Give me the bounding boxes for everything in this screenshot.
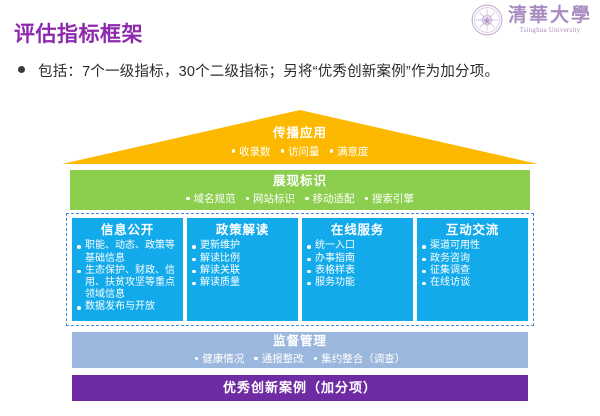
- green-band-title: 展现标识: [273, 174, 327, 189]
- page-title: 评估指标框架: [14, 18, 143, 48]
- pillar-item-list: 职能、动态、政策等基础信息 生态保护、财政、信用、扶贫攻坚等重点领域信息 数据发…: [76, 240, 179, 313]
- page-header: 评估指标框架 包括：7个一级指标，30个二级指标；另将“优秀创新案例”作为加分项…: [0, 0, 600, 92]
- pillar-item: 解读质量: [191, 277, 294, 289]
- pillars-dashed-container: 信息公开 职能、动态、政策等基础信息 生态保护、财政、信用、扶贫攻坚等重点领域信…: [66, 213, 534, 326]
- pillar-item: 征集调查: [421, 265, 524, 277]
- pillar-item: 解读比例: [191, 253, 294, 265]
- logo-wordmark: 清華大學 Tsinghua University: [508, 6, 592, 34]
- green-band-item: 域名规范: [186, 191, 236, 206]
- pillar-item: 办事指南: [306, 253, 409, 265]
- foundation-band-section: 优秀创新案例（加分项）: [72, 375, 528, 401]
- logo-name-en: Tsinghua University: [520, 27, 581, 34]
- pillar-item: 服务功能: [306, 277, 409, 289]
- supervision-item: 健康情况: [195, 351, 245, 366]
- tsinghua-seal-icon: [471, 4, 503, 36]
- summary-bullet: 包括：7个一级指标，30个二级指标；另将“优秀创新案例”作为加分项。: [18, 60, 499, 81]
- pillar-item: 政务咨询: [421, 253, 524, 265]
- supervision-item-list: 健康情况 通报整改 集约整合（调查）: [195, 351, 406, 366]
- pillar-item: 统一入口: [306, 240, 409, 252]
- foundation-band-title: 优秀创新案例（加分项）: [223, 380, 377, 396]
- pillar-information-disclosure: 信息公开 职能、动态、政策等基础信息 生态保护、财政、信用、扶贫攻坚等重点领域信…: [72, 218, 183, 321]
- green-band-item: 网站标识: [246, 191, 296, 206]
- green-band-item-list: 域名规范 网站标识 移动适配 搜索引擎: [186, 191, 414, 206]
- pillar-item: 生态保护、财政、信用、扶贫攻坚等重点领域信息: [76, 265, 179, 302]
- pillar-item-list: 统一入口 办事指南 表格样表 服务功能: [306, 240, 409, 289]
- pillar-title: 在线服务: [331, 223, 384, 237]
- pillar-title: 互动交流: [446, 223, 499, 237]
- roof-section: 传播应用 收录数 访问量 满意度: [62, 110, 538, 168]
- pillar-item: 在线访谈: [421, 277, 524, 289]
- pillar-item: 表格样表: [306, 265, 409, 277]
- pillar-item: 职能、动态、政策等基础信息: [76, 240, 179, 264]
- pillar-interactive-communication: 互动交流 渠道可用性 政务咨询 征集调查 在线访谈: [417, 218, 528, 321]
- framework-house-diagram: 传播应用 收录数 访问量 满意度 展现标识 域名规范 网站标识 移动适配 搜索引…: [0, 100, 600, 416]
- supervision-band-section: 监督管理 健康情况 通报整改 集约整合（调查）: [72, 332, 528, 368]
- pillar-item: 渠道可用性: [421, 240, 524, 252]
- green-band-item: 搜索引擎: [365, 191, 415, 206]
- bullet-dot-icon: [18, 66, 25, 73]
- pillar-item-list: 渠道可用性 政务咨询 征集调查 在线访谈: [421, 240, 524, 289]
- pillar-item: 解读关联: [191, 265, 294, 277]
- pillar-online-service: 在线服务 统一入口 办事指南 表格样表 服务功能: [302, 218, 413, 321]
- pillar-title: 信息公开: [101, 223, 154, 237]
- green-band-section: 展现标识 域名规范 网站标识 移动适配 搜索引擎: [70, 170, 530, 210]
- pillar-item: 更新维护: [191, 240, 294, 252]
- supervision-item: 集约整合（调查）: [314, 351, 406, 366]
- summary-bullet-text: 包括：7个一级指标，30个二级指标；另将“优秀创新案例”作为加分项。: [38, 60, 499, 81]
- roof-triangle-shape: [62, 110, 538, 168]
- tsinghua-university-logo: 清華大學 Tsinghua University: [471, 4, 592, 36]
- pillar-policy-interpretation: 政策解读 更新维护 解读比例 解读关联 解读质量: [187, 218, 298, 321]
- supervision-item: 通报整改: [254, 351, 304, 366]
- green-band-item: 移动适配: [305, 191, 355, 206]
- pillar-item-list: 更新维护 解读比例 解读关联 解读质量: [191, 240, 294, 289]
- supervision-band-title: 监督管理: [273, 334, 327, 349]
- logo-name-cn: 清華大學: [508, 6, 592, 25]
- pillar-item: 数据发布与开放: [76, 301, 179, 313]
- pillar-title: 政策解读: [216, 223, 269, 237]
